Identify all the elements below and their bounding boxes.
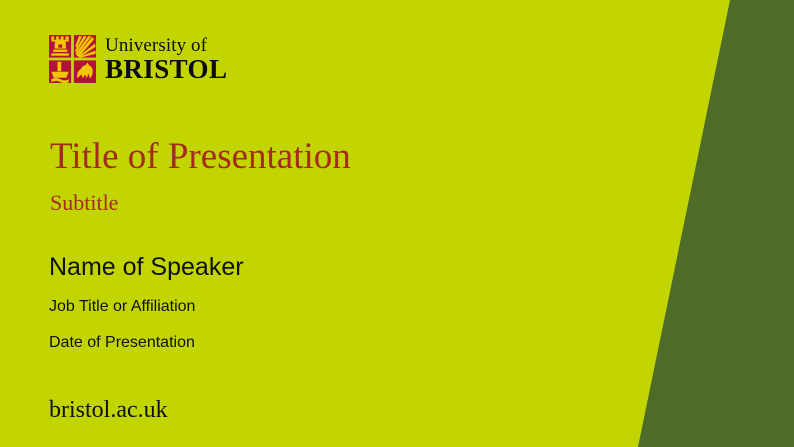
- wordmark-university-of: University of: [105, 36, 227, 56]
- presentation-date: Date of Presentation: [49, 333, 195, 353]
- bristol-shield-icon: [49, 35, 96, 83]
- wordmark-bristol: BRISTOL: [105, 56, 227, 83]
- university-logo: University of BRISTOL: [49, 35, 227, 83]
- university-wordmark: University of BRISTOL: [105, 35, 227, 83]
- presentation-subtitle: Subtitle: [50, 190, 118, 216]
- website-url: bristol.ac.uk: [49, 396, 168, 424]
- speaker-job-title: Job Title or Affiliation: [49, 297, 195, 317]
- presentation-title-slide: University of BRISTOL Title of Presentat…: [0, 0, 794, 447]
- speaker-name: Name of Speaker: [49, 253, 244, 282]
- presentation-title: Title of Presentation: [50, 136, 351, 178]
